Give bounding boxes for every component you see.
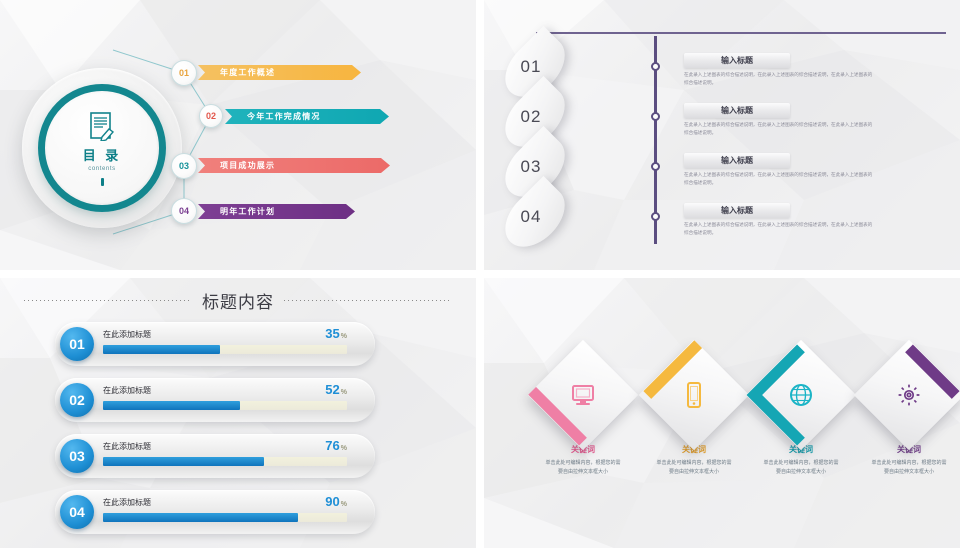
- smartphone-icon: [655, 356, 733, 434]
- timeline-title[interactable]: 输入标题: [684, 103, 790, 118]
- progress-label: 在此添加标题: [103, 385, 151, 396]
- contents-banner-03[interactable]: 项目成功展示: [198, 158, 390, 173]
- timeline-title[interactable]: 输入标题: [684, 53, 790, 68]
- progress-fill: [103, 513, 298, 522]
- contents-node-04[interactable]: 04: [171, 198, 197, 224]
- contents-title: 目 录: [83, 145, 122, 164]
- progress-label: 在此添加标题: [103, 329, 151, 340]
- timeline-desc: 在此录入上述图表的综合描述说明，在此录入上述图表的综合描述说明，在此录入上述图表…: [684, 171, 874, 187]
- percent-unit: %: [341, 445, 347, 452]
- keyword-desc: 单击此处可编辑内容，根据您的需要自由拉伸文本框大小: [854, 459, 960, 477]
- keyword-card[interactable]: 关键词 单击此处可编辑内容，根据您的需要自由拉伸文本框大小: [639, 356, 749, 477]
- contents-banner-04[interactable]: 明年工作计划: [198, 204, 355, 219]
- progress-fill: [103, 345, 220, 354]
- timeline-number: 02: [500, 94, 562, 140]
- page-title: 标题内容: [202, 288, 274, 313]
- banner-label: 今年工作完成情况: [247, 111, 321, 122]
- banner-label: 明年工作计划: [220, 206, 275, 217]
- timeline-row[interactable]: 04 输入标题 在此录入上述图表的综合描述说明，在此录入上述图表的综合描述说明，…: [500, 194, 950, 244]
- timeline-title[interactable]: 输入标题: [684, 203, 790, 218]
- keyword-desc: 单击此处可编辑内容，根据您的需要自由拉伸文本框大小: [639, 459, 749, 477]
- keyword-card[interactable]: 关键词 单击此处可编辑内容，根据您的需要自由拉伸文本框大小: [528, 356, 638, 477]
- timeline-title[interactable]: 输入标题: [684, 153, 790, 168]
- progress-badge: 01: [60, 327, 94, 361]
- progress-percent: 35%: [325, 326, 347, 341]
- node-label: 02: [206, 112, 216, 121]
- progress-title-row: 标题内容: [0, 288, 476, 313]
- timeline-row[interactable]: 03 输入标题 在此录入上述图表的综合描述说明，在此录入上述图表的综合描述说明，…: [500, 144, 950, 194]
- monitor-icon: [544, 356, 622, 434]
- keyword-desc: 单击此处可编辑内容，根据您的需要自由拉伸文本框大小: [746, 459, 856, 477]
- timeline-dot: [651, 162, 660, 171]
- timeline-number: 03: [500, 144, 562, 190]
- diamond-shape: [544, 356, 622, 434]
- progress-fill: [103, 457, 264, 466]
- dotted-rule-right: [284, 300, 452, 301]
- contents-node-02[interactable]: 02: [199, 104, 223, 128]
- contents-node-03[interactable]: 03: [171, 153, 197, 179]
- banner-label: 年度工作概述: [220, 67, 275, 78]
- timeline-top-rule: [536, 32, 946, 34]
- timeline-row[interactable]: 01 输入标题 在此录入上述图表的综合描述说明，在此录入上述图表的综合描述说明，…: [500, 44, 950, 94]
- progress-badge: 04: [60, 495, 94, 529]
- percent-unit: %: [341, 389, 347, 396]
- contents-banner-01[interactable]: 年度工作概述: [198, 65, 361, 80]
- clipboard-pencil-icon: [89, 111, 115, 141]
- progress-track: [103, 513, 347, 522]
- progress-track: [103, 401, 347, 410]
- timeline-desc: 在此录入上述图表的综合描述说明，在此录入上述图表的综合描述说明，在此录入上述图表…: [684, 71, 874, 87]
- timeline-number: 04: [500, 194, 562, 240]
- timeline-number: 01: [500, 44, 562, 90]
- percent-value: 90: [325, 494, 339, 509]
- slide-contents[interactable]: 目 录 contents 01 02 03 04 年度工作概述 今年工作完成情况…: [0, 0, 476, 270]
- percent-value: 35: [325, 326, 339, 341]
- globe-icon: [762, 356, 840, 434]
- banner-label: 项目成功展示: [220, 160, 275, 171]
- progress-label: 在此添加标题: [103, 497, 151, 508]
- percent-value: 76: [325, 438, 339, 453]
- progress-row[interactable]: 04 在此添加标题 90%: [55, 490, 375, 534]
- slide-progress[interactable]: 标题内容 01 在此添加标题 35% 02 在此添加标题 52% 03 在此添加…: [0, 278, 476, 548]
- timeline-row[interactable]: 02 输入标题 在此录入上述图表的综合描述说明，在此录入上述图表的综合描述说明，…: [500, 94, 950, 144]
- progress-track: [103, 457, 347, 466]
- timeline-desc: 在此录入上述图表的综合描述说明，在此录入上述图表的综合描述说明，在此录入上述图表…: [684, 221, 874, 237]
- contents-node-01[interactable]: 01: [171, 60, 197, 86]
- percent-unit: %: [341, 333, 347, 340]
- contents-subtitle: contents: [88, 166, 115, 172]
- slide-keywords[interactable]: 关键词 单击此处可编辑内容，根据您的需要自由拉伸文本框大小 关键词 单击此处可编: [484, 278, 960, 548]
- keyword-card[interactable]: 关键词 单击此处可编辑内容，根据您的需要自由拉伸文本框大小: [746, 356, 856, 477]
- progress-percent: 52%: [325, 382, 347, 397]
- slide-timeline[interactable]: 01 输入标题 在此录入上述图表的综合描述说明，在此录入上述图表的综合描述说明，…: [484, 0, 960, 270]
- slide-deck: 目 录 contents 01 02 03 04 年度工作概述 今年工作完成情况…: [0, 0, 960, 548]
- progress-percent: 76%: [325, 438, 347, 453]
- dotted-rule-left: [24, 300, 192, 301]
- timeline-dot: [651, 112, 660, 121]
- contents-banner-02[interactable]: 今年工作完成情况: [225, 109, 389, 124]
- diamond-shape: [655, 356, 733, 434]
- contents-center[interactable]: 目 录 contents: [47, 93, 157, 203]
- progress-badge: 02: [60, 383, 94, 417]
- contents-tick: [101, 178, 104, 186]
- diamond-shape: [870, 356, 948, 434]
- progress-track: [103, 345, 347, 354]
- node-label: 03: [179, 162, 189, 171]
- progress-badge: 03: [60, 439, 94, 473]
- node-label: 04: [179, 207, 189, 216]
- progress-label: 在此添加标题: [103, 441, 151, 452]
- progress-percent: 90%: [325, 494, 347, 509]
- gear-icon: [870, 356, 948, 434]
- percent-unit: %: [341, 501, 347, 508]
- percent-value: 52: [325, 382, 339, 397]
- progress-fill: [103, 401, 240, 410]
- timeline-dot: [651, 62, 660, 71]
- progress-row[interactable]: 02 在此添加标题 52%: [55, 378, 375, 422]
- node-label: 01: [179, 69, 189, 78]
- progress-row[interactable]: 01 在此添加标题 35%: [55, 322, 375, 366]
- keyword-desc: 单击此处可编辑内容，根据您的需要自由拉伸文本框大小: [528, 459, 638, 477]
- progress-row[interactable]: 03 在此添加标题 76%: [55, 434, 375, 478]
- timeline-desc: 在此录入上述图表的综合描述说明，在此录入上述图表的综合描述说明，在此录入上述图表…: [684, 121, 874, 137]
- diamond-shape: [762, 356, 840, 434]
- timeline-dot: [651, 212, 660, 221]
- keyword-card[interactable]: 关键词 单击此处可编辑内容，根据您的需要自由拉伸文本框大小: [854, 356, 960, 477]
